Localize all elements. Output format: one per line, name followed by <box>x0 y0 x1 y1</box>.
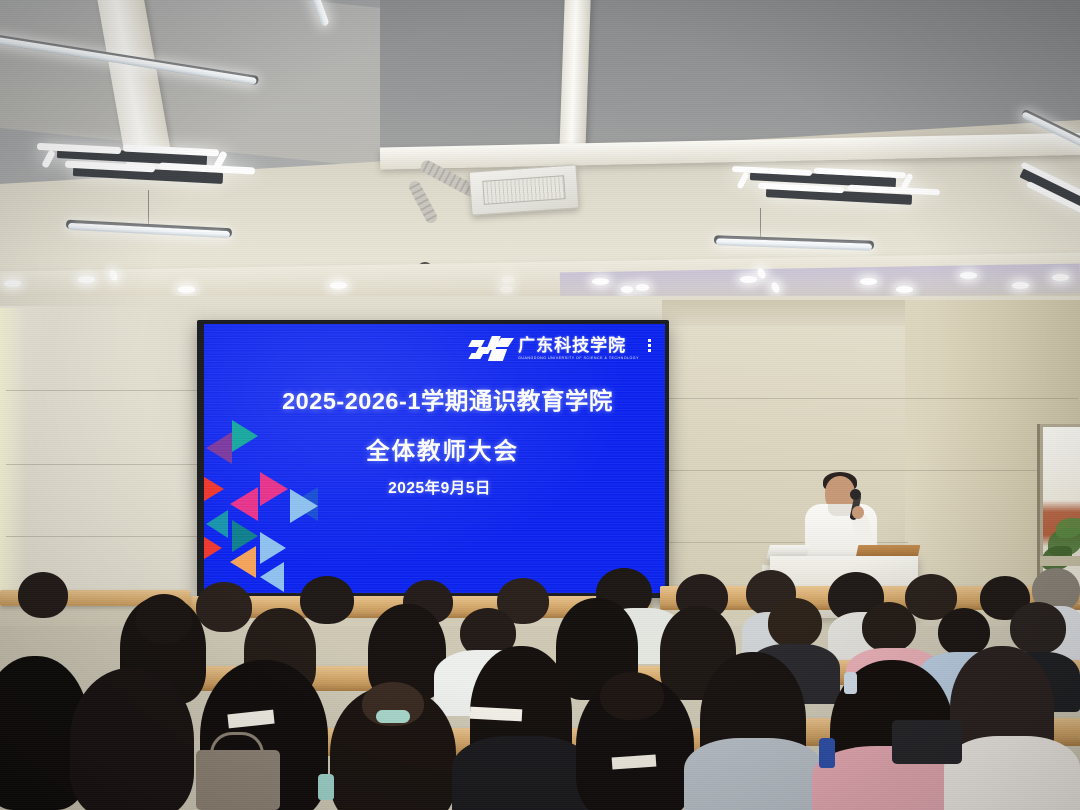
audience-torso <box>944 736 1080 810</box>
recessed-downlight <box>78 276 95 283</box>
logo-dot-marks <box>648 339 651 352</box>
hex-led-fixture-right <box>730 168 940 210</box>
ceiling-cassette-ac-unit <box>469 164 580 215</box>
shoulder-bag <box>196 750 280 810</box>
water-bottle <box>844 672 857 694</box>
audience-head <box>18 572 68 618</box>
recessed-downlight <box>592 278 609 285</box>
double-chevron-logo-icon <box>470 336 512 362</box>
wall-panel-seam <box>668 470 1078 471</box>
decor-triangle <box>206 510 228 538</box>
recessed-downlight <box>1052 274 1069 281</box>
led-presentation-screen[interactable]: 广东科技学院 GUANGDONG UNIVERSITY OF SCIENCE &… <box>204 324 665 593</box>
recessed-downlight <box>740 276 757 283</box>
shoulder-bag <box>892 720 962 764</box>
logo-english-name: GUANGDONG UNIVERSITY OF SCIENCE & TECHNO… <box>518 357 639 361</box>
university-logo: 广东科技学院 GUANGDONG UNIVERSITY OF SCIENCE &… <box>470 336 651 362</box>
speaker-hand <box>852 506 864 519</box>
water-bottle <box>819 738 835 768</box>
hair-tie <box>376 710 410 723</box>
audience-head <box>136 594 192 644</box>
wall-panel-seam <box>668 398 1078 399</box>
audience-area <box>0 560 1080 810</box>
recessed-downlight <box>330 282 347 289</box>
logo-chinese-name: 广东科技学院 <box>518 337 626 354</box>
water-bottle <box>318 774 334 800</box>
recessed-downlight <box>860 278 877 285</box>
recessed-downlight <box>1012 282 1029 289</box>
hex-led-fixture-left <box>35 145 255 190</box>
ac-grille <box>482 175 565 205</box>
recessed-downlight <box>636 284 649 291</box>
audience-head <box>196 582 252 632</box>
pendant-wire-1 <box>148 190 149 226</box>
recessed-downlight <box>621 286 633 293</box>
recessed-downlight <box>4 280 21 287</box>
recessed-downlight <box>502 276 514 283</box>
hex-led-fixture-far-right <box>1018 175 1080 215</box>
wall-panel-seam <box>6 536 202 537</box>
microphone-head <box>850 489 861 500</box>
audience-torso <box>452 736 592 810</box>
foliage-shape <box>1056 518 1080 538</box>
slide-title-line-1: 2025-2026-1学期通识教育学院 <box>204 382 665 416</box>
slide-date-line: 2025年9月5日 <box>204 476 665 498</box>
wall-panel-seam <box>6 464 202 465</box>
recessed-downlight <box>500 286 513 293</box>
slide-title-line-2: 全体教师大会 <box>204 432 665 466</box>
recessed-downlight <box>960 272 977 279</box>
audience-head <box>862 602 916 652</box>
recessed-downlight <box>178 286 195 293</box>
audience-long-hair <box>70 668 194 810</box>
recessed-downlight <box>896 286 913 293</box>
audience-head <box>300 576 354 624</box>
audience-head <box>1010 602 1066 654</box>
wall-panel-seam <box>6 390 202 391</box>
audience-torso <box>684 738 824 810</box>
audience-head <box>600 672 664 720</box>
audience-head <box>768 598 822 648</box>
lecture-hall-photo: 广东科技学院 GUANGDONG UNIVERSITY OF SCIENCE &… <box>0 0 1080 810</box>
